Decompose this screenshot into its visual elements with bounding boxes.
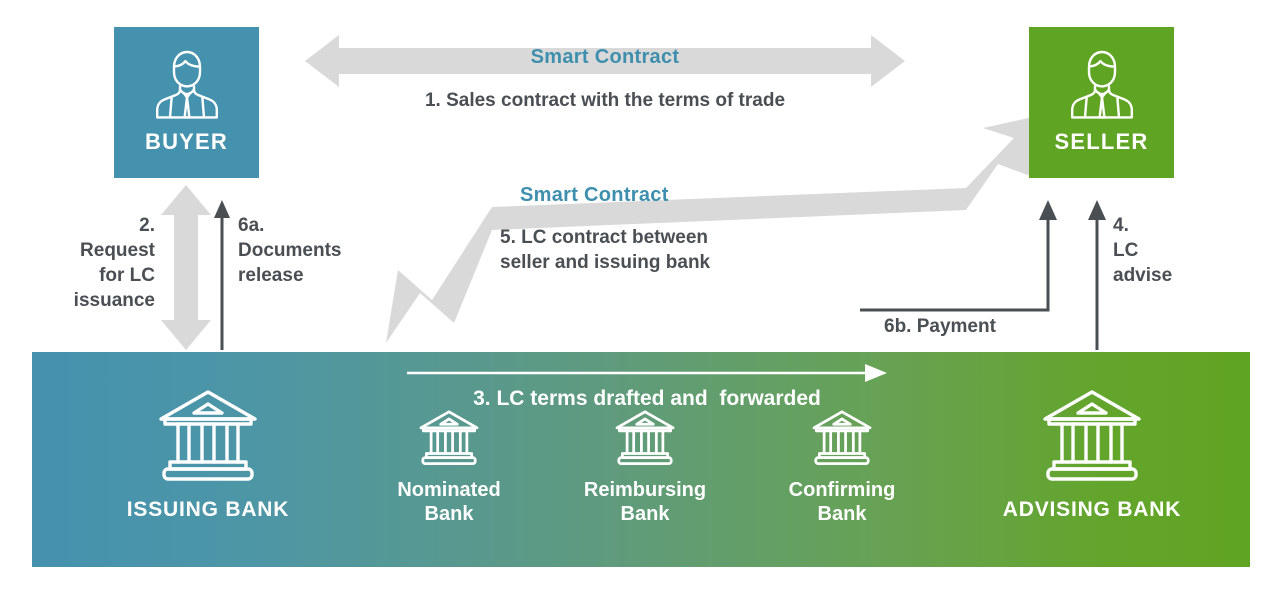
bank-label-line1: Nominated: [397, 478, 500, 502]
bank-icon: [156, 386, 260, 486]
bank-label-line2: Bank: [621, 502, 670, 526]
buyer-box[interactable]: BUYER: [114, 27, 259, 178]
bank-issuing[interactable]: ISSUING BANK: [88, 386, 328, 522]
person-icon: [150, 43, 224, 119]
bank-label: ISSUING BANK: [127, 498, 289, 522]
bank-label: ADVISING BANK: [1003, 498, 1181, 522]
step4-description: 4. LC advise: [1113, 213, 1263, 288]
bank-label-line2: Bank: [425, 502, 474, 526]
step3-right-arrow: [407, 363, 887, 383]
step6a-up-arrow: [212, 200, 232, 350]
step2-double-arrow: [160, 185, 212, 350]
bank-confirming[interactable]: Confirming Bank: [762, 408, 922, 526]
step1-smart-contract-label: Smart Contract: [305, 46, 905, 69]
diagram-canvas: Smart Contract 1. Sales contract with th…: [0, 0, 1280, 596]
bank-icon: [811, 408, 873, 468]
step2-description: 2. Request for LC issuance: [20, 213, 155, 313]
bank-advising[interactable]: ADVISING BANK: [962, 386, 1222, 522]
person-icon: [1065, 43, 1139, 119]
bank-icon: [614, 408, 676, 468]
bank-label-line1: Confirming: [789, 478, 896, 502]
step6b-elbow-arrow: [858, 200, 1068, 315]
bank-label-line1: Reimbursing: [584, 478, 706, 502]
step5-smart-contract-label: Smart Contract: [520, 184, 669, 207]
bank-icon: [418, 408, 480, 468]
step6b-description: 6b. Payment: [884, 314, 1064, 339]
bank-icon: [1040, 386, 1144, 486]
bank-nominated[interactable]: Nominated Bank: [369, 408, 529, 526]
seller-box[interactable]: SELLER: [1029, 27, 1174, 178]
buyer-label: BUYER: [145, 129, 228, 155]
step4-up-arrow: [1087, 200, 1107, 350]
bank-reimbursing[interactable]: Reimbursing Bank: [560, 408, 730, 526]
step5-description: 5. LC contract between seller and issuin…: [500, 225, 860, 275]
banks-bar: 3. LC terms drafted and forwarded ISSUIN…: [32, 352, 1250, 567]
seller-label: SELLER: [1055, 129, 1149, 155]
bank-label-line2: Bank: [818, 502, 867, 526]
